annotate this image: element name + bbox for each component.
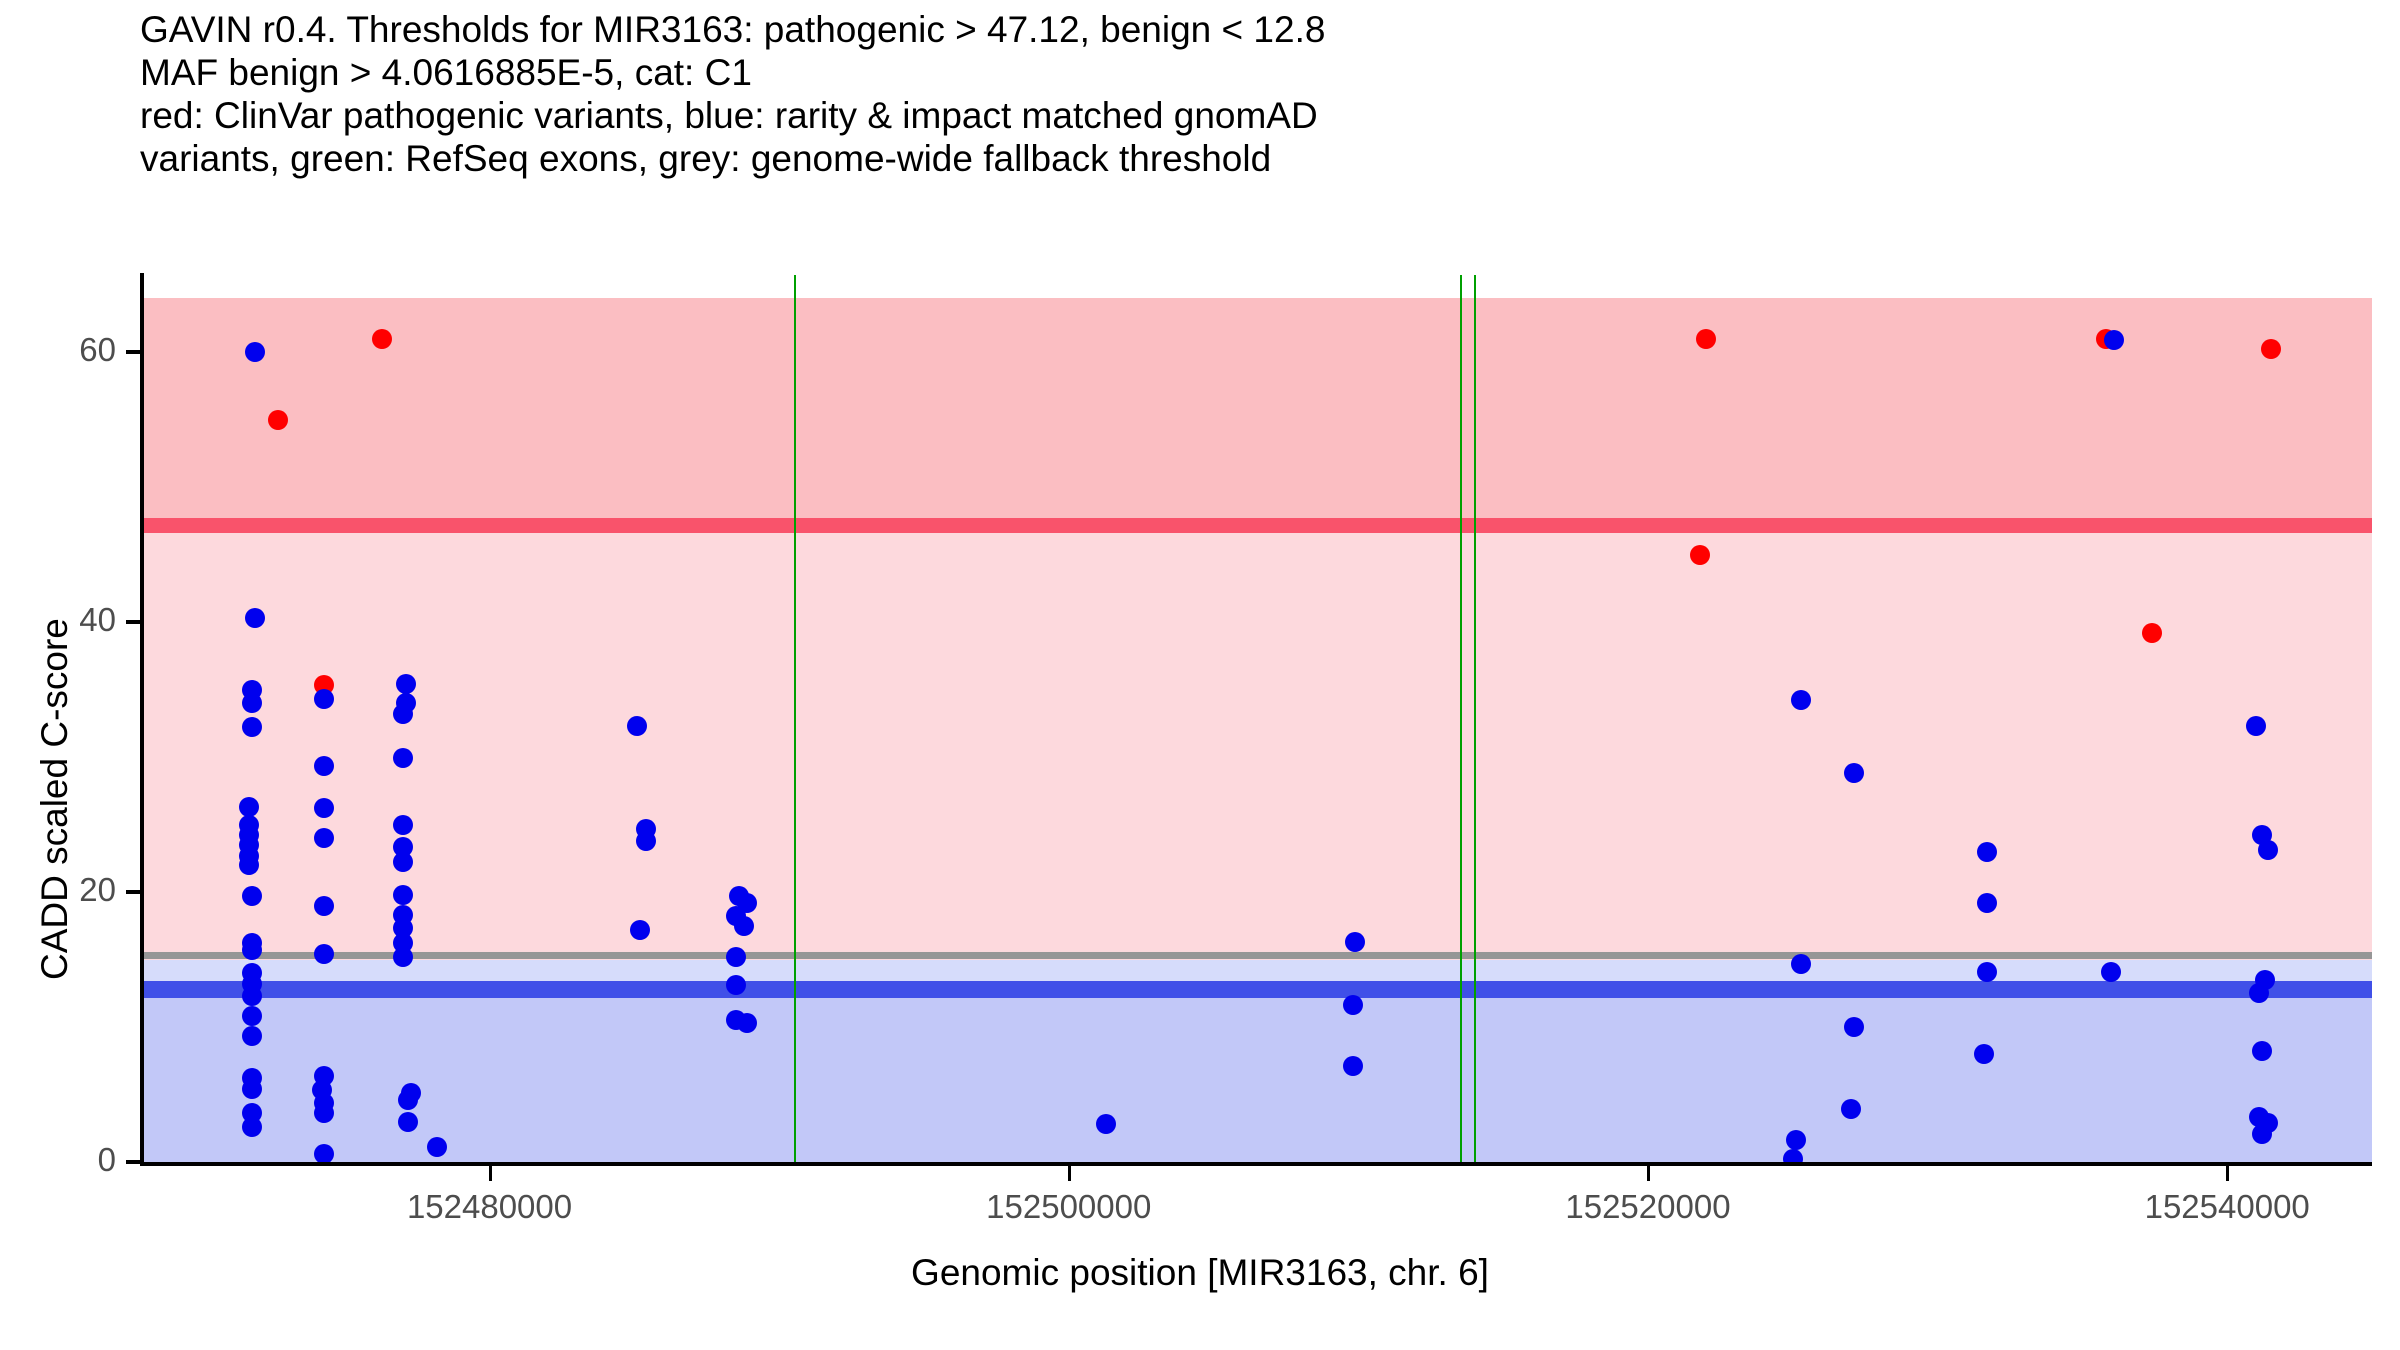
gnomad-point xyxy=(393,815,413,835)
chart-title: GAVIN r0.4. Thresholds for MIR3163: path… xyxy=(140,8,2340,180)
gnomad-point xyxy=(1977,893,1997,913)
gnomad-point xyxy=(239,855,259,875)
gnomad-point xyxy=(726,975,746,995)
gnomad-point xyxy=(393,885,413,905)
gnomad-point xyxy=(245,342,265,362)
exon-line-2 xyxy=(1474,275,1476,1162)
x-tick-152520000 xyxy=(1647,1166,1650,1181)
y-tick-40 xyxy=(126,620,140,624)
x-tick-label-152520000: 152520000 xyxy=(1498,1188,1798,1226)
plot-panel xyxy=(142,275,2372,1162)
gnomad-point xyxy=(314,896,334,916)
gnomad-point xyxy=(2258,840,2278,860)
gnomad-point xyxy=(242,986,262,1006)
gnomad-point xyxy=(2252,1124,2272,1144)
chart-root: GAVIN r0.4. Thresholds for MIR3163: path… xyxy=(0,0,2400,1350)
benign-threshold-line xyxy=(142,981,2372,998)
pathogenic-point xyxy=(1696,329,1716,349)
gnomad-point xyxy=(2104,330,2124,350)
y-tick-60 xyxy=(126,350,140,354)
x-tick-label-152500000: 152500000 xyxy=(919,1188,1219,1226)
gnomad-point xyxy=(1841,1099,1861,1119)
gnomad-point xyxy=(1783,1149,1803,1162)
title-line-2: MAF benign > 4.0616885E-5, cat: C1 xyxy=(140,51,2340,94)
pathogenic-point xyxy=(1690,545,1710,565)
gnomad-point xyxy=(1974,1044,1994,1064)
pathogenic-point xyxy=(2261,339,2281,359)
title-line-3: red: ClinVar pathogenic variants, blue: … xyxy=(140,94,2340,137)
x-tick-152480000 xyxy=(489,1166,492,1181)
x-tick-label-152480000: 152480000 xyxy=(340,1188,640,1226)
gnomad-point xyxy=(1791,954,1811,974)
gnomad-point xyxy=(393,704,413,724)
x-axis-line xyxy=(140,1162,2372,1166)
gnomad-point xyxy=(242,940,262,960)
title-line-4: variants, green: RefSeq exons, grey: gen… xyxy=(140,137,2340,180)
x-tick-152500000 xyxy=(1068,1166,1071,1181)
gnomad-point xyxy=(239,797,259,817)
title-line-1: GAVIN r0.4. Thresholds for MIR3163: path… xyxy=(140,8,2340,51)
gnomad-point xyxy=(726,947,746,967)
fallback-threshold-band xyxy=(142,952,2372,959)
x-tick-label-152540000: 152540000 xyxy=(2077,1188,2377,1226)
gnomad-point xyxy=(1786,1130,1806,1150)
exon-line-1 xyxy=(1460,275,1462,1162)
gnomad-point xyxy=(2246,716,2266,736)
y-tick-0 xyxy=(126,1160,140,1164)
y-axis-title: CADD scaled C-score xyxy=(34,618,76,980)
gnomad-point xyxy=(242,1079,262,1099)
pathogenic-point xyxy=(2142,623,2162,643)
pathogenic-region-upper xyxy=(142,298,2372,526)
gnomad-point xyxy=(393,748,413,768)
y-axis-line xyxy=(140,273,144,1164)
benign-region xyxy=(142,989,2372,1162)
gnomad-point xyxy=(242,693,262,713)
gnomad-point xyxy=(1343,995,1363,1015)
gnomad-point xyxy=(1343,1056,1363,1076)
gnomad-point xyxy=(734,916,754,936)
y-tick-label-60: 60 xyxy=(26,331,116,369)
gnomad-point xyxy=(242,886,262,906)
x-tick-152540000 xyxy=(2226,1166,2229,1181)
gnomad-point xyxy=(314,1144,334,1162)
pathogenic-point xyxy=(268,410,288,430)
pathogenic-threshold-line xyxy=(142,518,2372,533)
gnomad-point xyxy=(630,920,650,940)
y-tick-20 xyxy=(126,890,140,894)
gnomad-point xyxy=(1977,842,1997,862)
gnomad-point xyxy=(1977,962,1997,982)
gnomad-point xyxy=(396,674,416,694)
gnomad-point xyxy=(242,1117,262,1137)
gnomad-point xyxy=(398,1112,418,1132)
x-axis-title: Genomic position [MIR3163, chr. 6] xyxy=(0,1252,2400,1294)
gnomad-point xyxy=(393,947,413,967)
gnomad-point xyxy=(1844,763,1864,783)
gnomad-point xyxy=(636,831,656,851)
gnomad-point xyxy=(393,852,413,872)
exon-line-0 xyxy=(794,275,796,1162)
gnomad-point xyxy=(1844,1017,1864,1037)
pathogenic-point xyxy=(372,329,392,349)
gnomad-point xyxy=(245,608,265,628)
gnomad-point xyxy=(2101,962,2121,982)
y-tick-label-0: 0 xyxy=(26,1141,116,1179)
